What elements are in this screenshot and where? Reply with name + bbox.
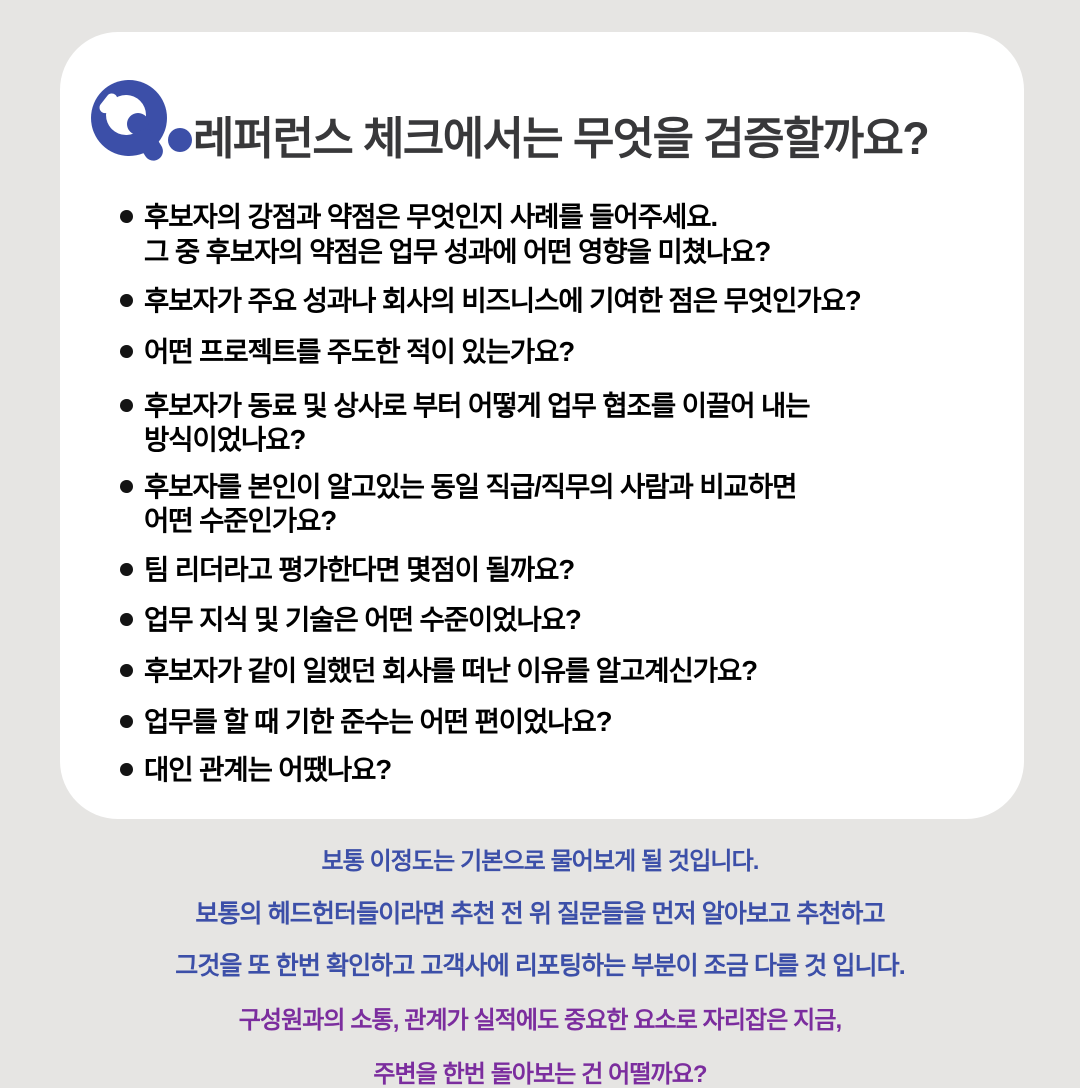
list-item-label: 후보자가 동료 및 상사로 부터 어떻게 업무 협조를 이끌어 내는 방식이었나… <box>144 389 810 458</box>
bullet-icon <box>120 345 133 358</box>
list-item: 후보자가 같이 일했던 회사를 떠난 이유를 알고계신가요? <box>120 654 988 689</box>
list-item-label: 대인 관계는 어땠나요? <box>144 753 391 788</box>
footer-line: 구성원과의 소통, 관계가 실적에도 중요한 요소로 자리잡은 지금, <box>0 1009 1080 1033</box>
list-item: 업무 지식 및 기술은 어떤 수준이었나요? <box>120 603 988 638</box>
list-item: 후보자가 주요 성과나 회사의 비즈니스에 기여한 점은 무엇인가요? <box>120 284 988 319</box>
list-item: 업무를 할 때 기한 준수는 어떤 편이었나요? <box>120 705 988 740</box>
list-item-label: 어떤 프로젝트를 주도한 적이 있는가요? <box>144 335 574 370</box>
footer-line: 주변을 한번 돌아보는 건 어떨까요? <box>0 1063 1080 1087</box>
list-item: 후보자가 동료 및 상사로 부터 어떻게 업무 협조를 이끌어 내는 방식이었나… <box>120 389 988 458</box>
bullet-icon <box>120 399 133 412</box>
page-title: 레퍼런스 체크에서는 무엇을 검증할까요? <box>193 116 928 161</box>
list-item: 후보자를 본인이 알고있는 동일 직급/직무의 사람과 비교하면 어떤 수준인가… <box>120 470 988 539</box>
bullet-icon <box>120 763 133 776</box>
list-item-label: 후보자가 주요 성과나 회사의 비즈니스에 기여한 점은 무엇인가요? <box>144 284 861 319</box>
content-card: 레퍼런스 체크에서는 무엇을 검증할까요? 후보자의 강점과 약점은 무엇인지 … <box>60 32 1024 819</box>
list-item-label: 업무를 할 때 기한 준수는 어떤 편이었나요? <box>144 705 612 740</box>
list-item-label: 업무 지식 및 기술은 어떤 수준이었나요? <box>144 603 581 638</box>
footer-line: 보통의 헤드헌터들이라면 추천 전 위 질문들을 먼저 알아보고 추천하고 <box>0 902 1080 927</box>
q-magnifier-icon <box>85 76 197 172</box>
list-item-label: 후보자를 본인이 알고있는 동일 직급/직무의 사람과 비교하면 어떤 수준인가… <box>144 470 796 539</box>
list-item-label: 후보자의 강점과 약점은 무엇인지 사례를 들어주세요. 그 중 후보자의 약점… <box>144 200 770 269</box>
bullet-icon <box>120 480 133 493</box>
bullet-icon <box>120 210 133 223</box>
bullet-icon <box>120 664 133 677</box>
bullet-icon <box>120 715 133 728</box>
list-item: 팀 리더라고 평가한다면 몇점이 될까요? <box>120 553 988 588</box>
list-item: 후보자의 강점과 약점은 무엇인지 사례를 들어주세요. 그 중 후보자의 약점… <box>120 200 988 269</box>
bullet-icon <box>120 563 133 576</box>
footer-line: 그것을 또 한번 확인하고 고객사에 리포팅하는 부분이 조금 다를 것 입니다… <box>0 954 1080 979</box>
list-item-label: 팀 리더라고 평가한다면 몇점이 될까요? <box>144 553 574 588</box>
list-item-label: 후보자가 같이 일했던 회사를 떠난 이유를 알고계신가요? <box>144 654 757 689</box>
bullet-icon <box>120 294 133 307</box>
bullet-icon <box>120 613 133 626</box>
title-row: 레퍼런스 체크에서는 무엇을 검증할까요? <box>85 74 1004 170</box>
question-list: 후보자의 강점과 약점은 무엇인지 사례를 들어주세요. 그 중 후보자의 약점… <box>120 200 988 787</box>
footer: 보통 이정도는 기본으로 물어보게 될 것입니다. 보통의 헤드헌터들이라면 추… <box>0 840 1080 1087</box>
list-item: 어떤 프로젝트를 주도한 적이 있는가요? <box>120 335 988 370</box>
list-item: 대인 관계는 어땠나요? <box>120 753 988 788</box>
footer-line: 보통 이정도는 기본으로 물어보게 될 것입니다. <box>0 850 1080 874</box>
